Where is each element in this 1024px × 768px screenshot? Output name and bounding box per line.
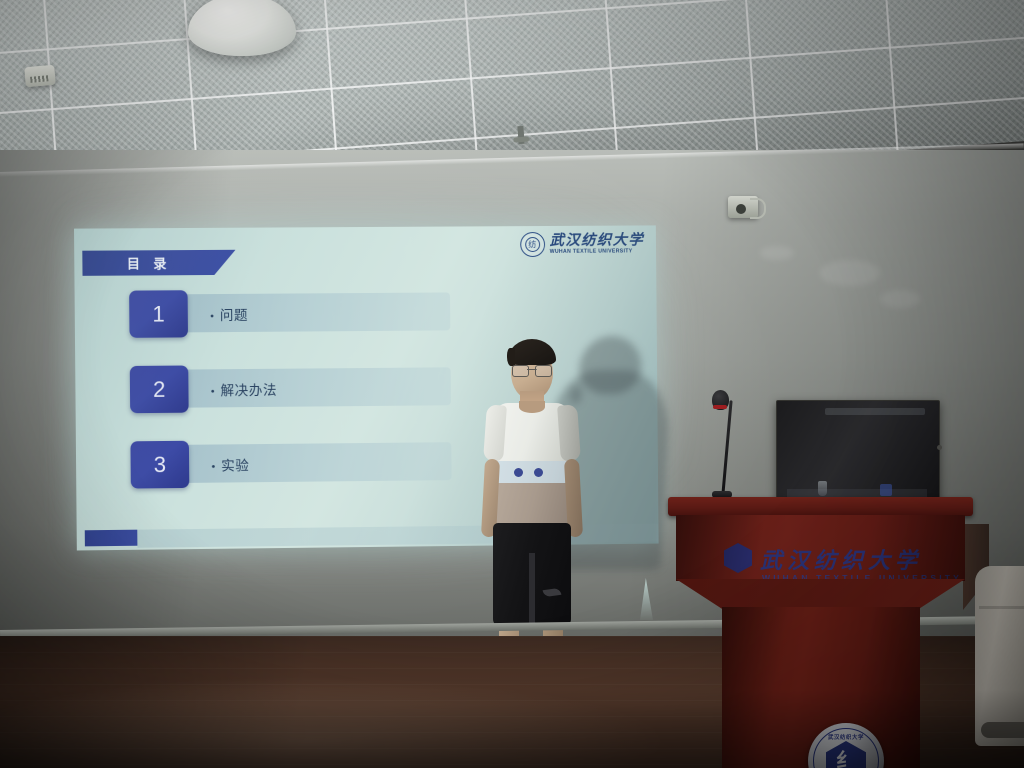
podium-top-surface	[668, 497, 973, 516]
bullet-icon: •	[211, 459, 216, 473]
slide-title-banner: 目 录	[82, 250, 235, 276]
slide-university-logo: 纺 武汉纺织大学 WUHAN TEXTILE UNIVERSITY	[520, 231, 645, 257]
smoke-detector-icon	[24, 65, 56, 88]
shirt-lower-panel	[494, 483, 570, 525]
item-bar	[159, 292, 450, 332]
podium-front-shading	[676, 515, 965, 581]
shirt-graphic-band	[494, 461, 570, 483]
item-label-wrap: •问题	[210, 303, 248, 323]
item-label: 解决办法	[220, 382, 277, 398]
shirt-sleeve-right	[557, 404, 581, 461]
bottom-shadow	[0, 690, 1024, 768]
wall-sensor-icon	[728, 196, 758, 218]
item-label: 问题	[220, 307, 248, 322]
microphone-indicator-ring	[713, 405, 727, 409]
monitor-reflection	[825, 408, 925, 415]
item-number: 1	[129, 290, 188, 338]
trouser-fold	[979, 606, 1024, 609]
lecture-room-photo: 纺 武汉纺织大学 WUHAN TEXTILE UNIVERSITY 目 录 1 …	[0, 0, 1024, 768]
glass-icon	[818, 481, 827, 496]
bullet-icon: •	[211, 384, 216, 398]
item-label-wrap: •解决办法	[210, 378, 277, 399]
logo-chinese-name: 武汉纺织大学	[550, 233, 645, 248]
seal-inner-glyph: 纺	[525, 237, 540, 252]
shorts-logo	[543, 588, 562, 597]
logo-english-name: WUHAN TEXTILE UNIVERSITY	[550, 249, 645, 255]
dome-light-icon	[188, 0, 296, 56]
logo-text: 武汉纺织大学 WUHAN TEXTILE UNIVERSITY	[550, 233, 645, 255]
university-seal-icon: 纺	[520, 232, 545, 257]
desk-items	[818, 481, 908, 497]
monitor-power-button[interactable]	[937, 445, 942, 450]
list-item: 2 •解决办法	[130, 363, 451, 413]
eyeglasses-icon	[512, 365, 552, 375]
slide-agenda-list: 1 •问题 2 •解决办法 3 •实验	[129, 288, 452, 516]
item-bar	[160, 367, 451, 408]
sprinkler-icon	[517, 126, 524, 144]
shirt-sleeve-left	[483, 404, 507, 461]
item-number: 3	[130, 441, 189, 489]
presenter-hair	[508, 339, 556, 365]
presenter-shorts	[493, 523, 571, 627]
shirt-collar	[519, 401, 545, 413]
slide-footer-block	[85, 530, 138, 547]
item-label-wrap: •实验	[211, 454, 249, 474]
podium-taper	[676, 579, 965, 609]
item-number: 2	[130, 365, 189, 413]
bullet-icon: •	[210, 309, 215, 323]
list-item: 1 •问题	[129, 288, 450, 337]
blue-object-icon	[880, 484, 892, 496]
item-bar	[161, 442, 452, 483]
list-item: 3 •实验	[130, 438, 451, 488]
item-label: 实验	[221, 458, 249, 473]
slide-title: 目 录	[127, 253, 172, 272]
podium-front-panel: 武汉纺织大学 WUHAN TEXTILE UNIVERSITY	[676, 515, 965, 581]
